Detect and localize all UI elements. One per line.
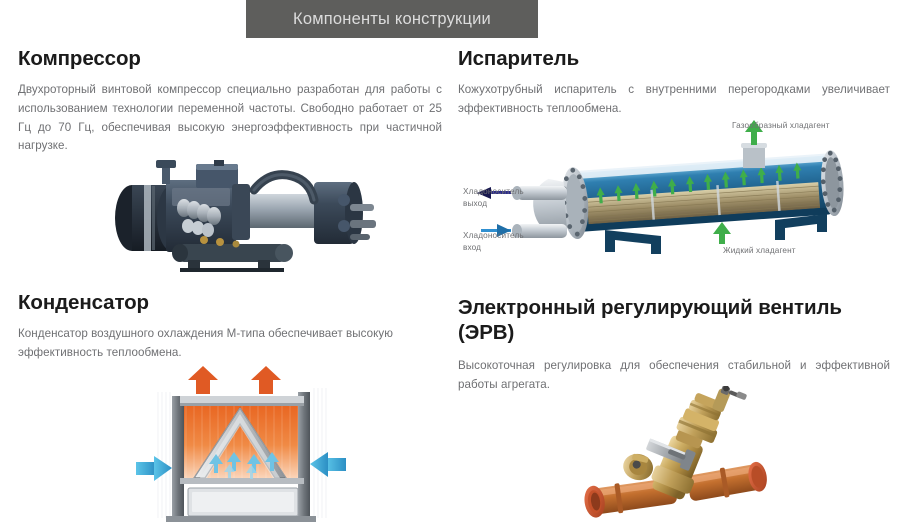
label-liquid-refrigerant-text: Жидкий хладагент <box>723 246 796 255</box>
section-compressor-body: Двухроторный винтовой компрессор специал… <box>18 81 442 156</box>
label-coolant-outlet-line1: Хладоноситель <box>463 186 524 198</box>
section-condenser-title: Конденсатор <box>18 290 442 315</box>
label-coolant-inlet: Хладоноситель вход <box>463 230 524 254</box>
label-coolant-outlet: Хладоноситель выход <box>463 186 524 210</box>
section-eev-title: Электронный регулирующий вентиль (ЭРВ) <box>458 295 890 345</box>
section-compressor: Компрессор Двухроторный винтовой компрес… <box>18 46 442 156</box>
section-evaporator-body: Кожухотрубный испаритель с внутренними п… <box>458 81 890 119</box>
evaporator-diagram: Газообразный хладагент Жидкий хладагент … <box>455 118 900 268</box>
eev-valve-illustration <box>572 386 772 529</box>
section-evaporator-title: Испаритель <box>458 46 890 71</box>
label-coolant-inlet-line2: вход <box>463 242 524 254</box>
slide-root: Компоненты конструкции Компрессор Двухро… <box>0 0 900 529</box>
section-compressor-title: Компрессор <box>18 46 442 71</box>
liquid-inlet-arrow <box>713 222 731 244</box>
page-title-banner: Компоненты конструкции <box>246 0 538 38</box>
cool-air-arrow-right <box>310 452 346 477</box>
hot-air-arrow-left <box>188 366 218 394</box>
label-gas-refrigerant: Газообразный хладагент <box>732 120 830 132</box>
compressor-illustration <box>92 160 382 272</box>
label-liquid-refrigerant: Жидкий хладагент <box>723 245 796 257</box>
section-condenser-body: Конденсатор воздушного охлаждения М-типа… <box>18 325 442 363</box>
condenser-illustration <box>136 366 346 529</box>
section-evaporator: Испаритель Кожухотрубный испаритель с вн… <box>458 46 890 119</box>
label-gas-refrigerant-text: Газообразный хладагент <box>732 121 830 130</box>
cool-air-arrow-left <box>136 456 172 481</box>
page-title: Компоненты конструкции <box>293 10 491 29</box>
condenser-diagram <box>136 366 346 529</box>
hot-air-arrow-right <box>251 366 281 394</box>
section-eev: Электронный регулирующий вентиль (ЭРВ) В… <box>458 295 890 395</box>
eev-valve-photo <box>572 386 772 529</box>
label-coolant-outlet-line2: выход <box>463 198 524 210</box>
label-coolant-inlet-line1: Хладоноситель <box>463 230 524 242</box>
section-condenser: Конденсатор Конденсатор воздушного охлаж… <box>18 290 442 363</box>
compressor-photo <box>92 160 382 272</box>
